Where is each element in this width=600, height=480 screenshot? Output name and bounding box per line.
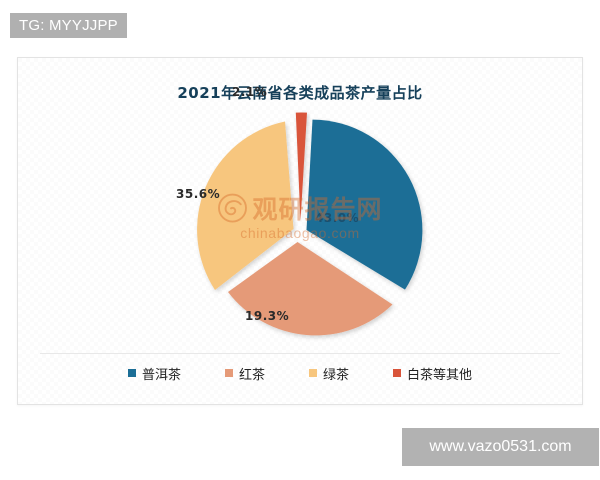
pie-slice-bai-cha[interactable]: [296, 112, 307, 221]
legend-item-hong-cha[interactable]: 红茶: [225, 364, 265, 383]
pie-label-bai-cha: 2.1%: [232, 85, 267, 99]
legend-item-pu-er[interactable]: 普洱茶: [128, 364, 181, 383]
chart-legend: 普洱茶 红茶 绿茶 白茶等其他: [40, 353, 560, 392]
pie-label-pu-er: 43.0%: [315, 211, 359, 225]
pie-chart: 43.0% 19.3% 35.6% 2.1%: [151, 108, 451, 353]
legend-swatch-icon: [309, 369, 317, 377]
legend-swatch-icon: [393, 369, 401, 377]
legend-label: 白茶等其他: [407, 364, 472, 383]
legend-label: 红茶: [239, 364, 265, 383]
url-tag-text: www.vazo0531.com: [429, 438, 571, 456]
legend-label: 绿茶: [323, 364, 349, 383]
legend-swatch-icon: [225, 369, 233, 377]
url-tag-overlay: www.vazo0531.com: [402, 428, 599, 466]
pie-label-lv-cha: 35.6%: [176, 187, 220, 201]
chart-title: 2021年云南省各类成品茶产量占比: [18, 82, 582, 103]
legend-item-lv-cha[interactable]: 绿茶: [309, 364, 349, 383]
pie-label-hong-cha: 19.3%: [245, 309, 289, 323]
legend-item-bai-cha[interactable]: 白茶等其他: [393, 364, 472, 383]
pie-chart-svg: [151, 108, 451, 353]
tg-tag-overlay: TG: MYYJJPP: [10, 13, 127, 38]
legend-swatch-icon: [128, 369, 136, 377]
tg-tag-text: TG: MYYJJPP: [19, 17, 118, 34]
chart-card: 2021年云南省各类成品茶产量占比 43.0% 19.3% 35.6% 2.1%: [17, 57, 583, 405]
legend-label: 普洱茶: [142, 364, 181, 383]
